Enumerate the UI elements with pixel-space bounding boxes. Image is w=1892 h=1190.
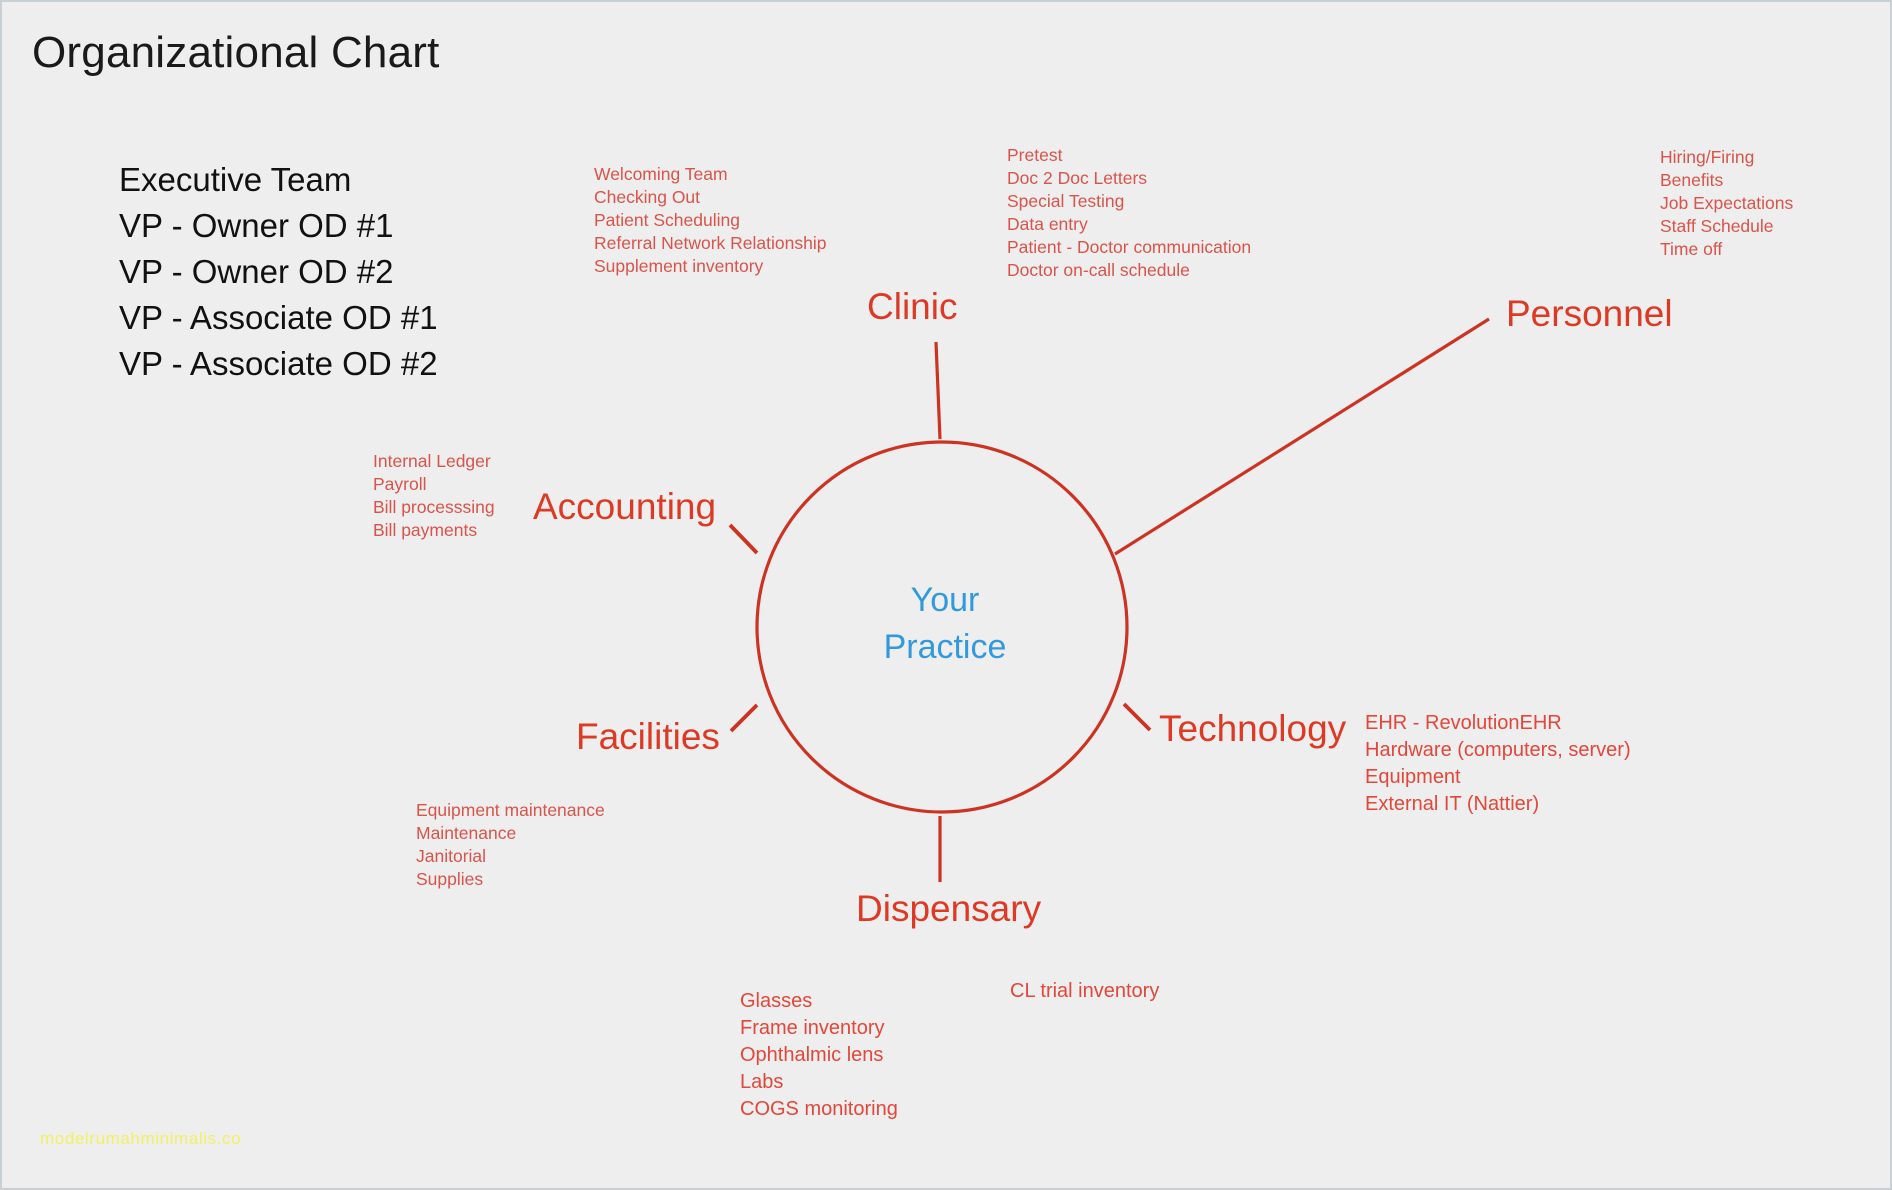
list-item: Maintenance [416, 822, 605, 845]
list-item: COGS monitoring [740, 1096, 898, 1123]
executive-team-heading: Executive Team [119, 157, 438, 203]
list-item: Supplies [416, 868, 605, 891]
list-item: Janitorial [416, 845, 605, 868]
list-item: Data entry [1007, 213, 1251, 236]
connector-clinic [936, 342, 940, 439]
list-item: Equipment [1365, 764, 1631, 791]
list-item: EHR - RevolutionEHR [1365, 710, 1631, 737]
executive-team-member: VP - Owner OD #2 [119, 249, 438, 295]
list-item: Payroll [373, 473, 495, 496]
list-item: Special Testing [1007, 190, 1251, 213]
list-item: Bill processsing [373, 496, 495, 519]
list-item: Checking Out [594, 186, 826, 209]
list-item: Pretest [1007, 144, 1251, 167]
list-item: CL trial inventory [1010, 978, 1159, 1005]
clinic-detail-list-left: Welcoming Team Checking Out Patient Sche… [594, 163, 826, 278]
watermark: modelrumahminimalis.co [40, 1129, 241, 1149]
list-item: Labs [740, 1069, 898, 1096]
branch-label-dispensary[interactable]: Dispensary [856, 890, 1041, 927]
list-item: Glasses [740, 988, 898, 1015]
list-item: Doctor on-call schedule [1007, 259, 1251, 282]
dispensary-detail-list-extra: CL trial inventory [1010, 978, 1159, 1005]
personnel-detail-list: Hiring/Firing Benefits Job Expectations … [1660, 146, 1793, 261]
list-item: Patient Scheduling [594, 209, 826, 232]
organizational-chart-canvas: Organizational Chart Executive Team VP -… [0, 0, 1892, 1190]
connector-facilities [731, 705, 757, 731]
list-item: External IT (Nattier) [1365, 791, 1631, 818]
hub-label-line2: Practice [880, 624, 1010, 671]
list-item: Hardware (computers, server) [1365, 737, 1631, 764]
facilities-detail-list: Equipment maintenance Maintenance Janito… [416, 799, 605, 891]
list-item: Hiring/Firing [1660, 146, 1793, 169]
page-title: Organizational Chart [32, 28, 440, 78]
list-item: Bill payments [373, 519, 495, 542]
technology-detail-list: EHR - RevolutionEHR Hardware (computers,… [1365, 710, 1631, 818]
clinic-detail-list-right: Pretest Doc 2 Doc Letters Special Testin… [1007, 144, 1251, 282]
hub-label-line1: Your [880, 577, 1010, 624]
executive-team-member: VP - Associate OD #1 [119, 295, 438, 341]
executive-team-member: VP - Owner OD #1 [119, 203, 438, 249]
connector-accounting [730, 525, 757, 553]
list-item: Benefits [1660, 169, 1793, 192]
list-item: Referral Network Relationship [594, 232, 826, 255]
branch-label-technology[interactable]: Technology [1159, 710, 1346, 747]
branch-label-personnel[interactable]: Personnel [1506, 295, 1673, 332]
list-item: Doc 2 Doc Letters [1007, 167, 1251, 190]
connector-personnel [1115, 319, 1489, 554]
list-item: Welcoming Team [594, 163, 826, 186]
list-item: Time off [1660, 238, 1793, 261]
list-item: Frame inventory [740, 1015, 898, 1042]
hub-label: Your Practice [880, 577, 1010, 671]
executive-team-block: Executive Team VP - Owner OD #1 VP - Own… [119, 157, 438, 387]
branch-label-clinic[interactable]: Clinic [867, 288, 957, 325]
branch-label-facilities[interactable]: Facilities [576, 718, 720, 755]
executive-team-member: VP - Associate OD #2 [119, 341, 438, 387]
list-item: Ophthalmic lens [740, 1042, 898, 1069]
list-item: Staff Schedule [1660, 215, 1793, 238]
list-item: Patient - Doctor communication [1007, 236, 1251, 259]
accounting-detail-list: Internal Ledger Payroll Bill processsing… [373, 450, 495, 542]
branch-label-accounting[interactable]: Accounting [533, 488, 716, 525]
connector-technology [1124, 704, 1150, 730]
dispensary-detail-list: Glasses Frame inventory Ophthalmic lens … [740, 988, 898, 1123]
list-item: Supplement inventory [594, 255, 826, 278]
list-item: Job Expectations [1660, 192, 1793, 215]
list-item: Internal Ledger [373, 450, 495, 473]
list-item: Equipment maintenance [416, 799, 605, 822]
